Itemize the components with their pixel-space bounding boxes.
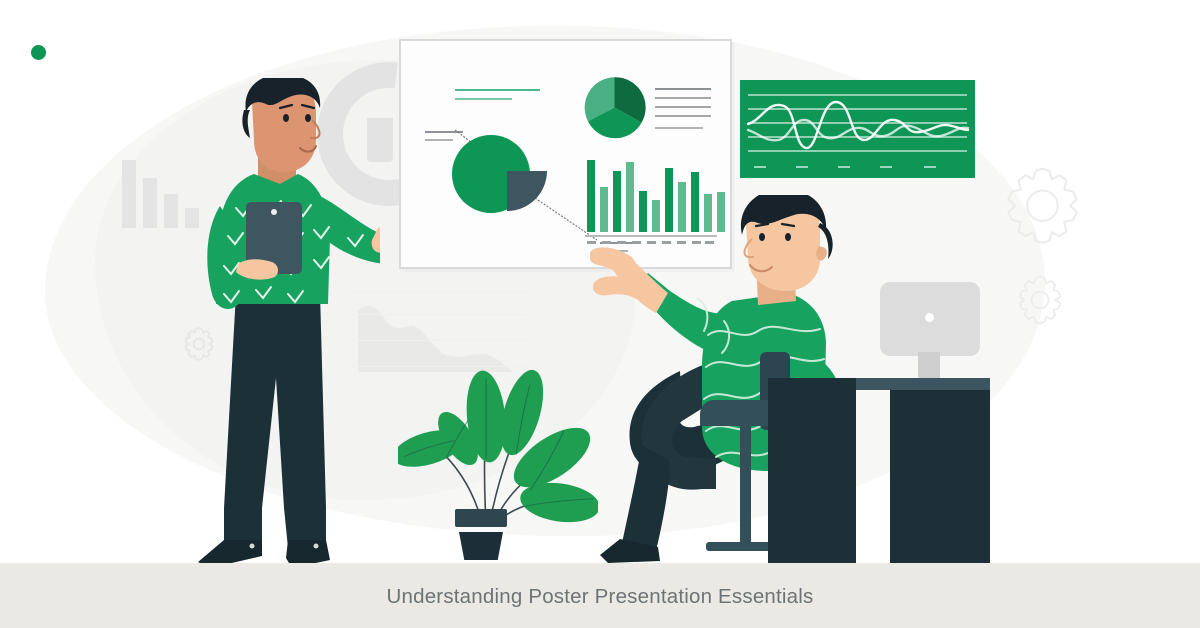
standing-presenter bbox=[180, 78, 380, 568]
plant-pot-rim bbox=[455, 509, 507, 527]
legend-line bbox=[455, 98, 512, 100]
plant-pot-stripe bbox=[457, 527, 505, 532]
text-line bbox=[655, 97, 711, 99]
gear-icon bbox=[1012, 272, 1068, 328]
line-chart-curves bbox=[740, 80, 975, 178]
gear-icon bbox=[995, 163, 1090, 258]
callout-line bbox=[425, 139, 453, 141]
chair-post bbox=[740, 420, 751, 546]
legend-line bbox=[455, 89, 540, 91]
text-line bbox=[655, 115, 711, 117]
legend-dot-icon bbox=[31, 45, 46, 60]
illustration-scene: Understanding Poster Presentation Essent… bbox=[0, 0, 1200, 628]
green-panel-line-chart bbox=[740, 80, 975, 178]
plant-pot-body bbox=[459, 532, 503, 560]
text-line bbox=[655, 88, 711, 90]
text-line bbox=[655, 127, 703, 129]
text-line bbox=[655, 106, 711, 108]
desk-panel-right bbox=[890, 390, 990, 568]
monitor-logo-dot bbox=[925, 313, 934, 322]
desk-panel-left bbox=[768, 378, 856, 568]
caption-title: Understanding Poster Presentation Essent… bbox=[0, 566, 1200, 628]
whiteboard-small-pie bbox=[583, 76, 646, 139]
